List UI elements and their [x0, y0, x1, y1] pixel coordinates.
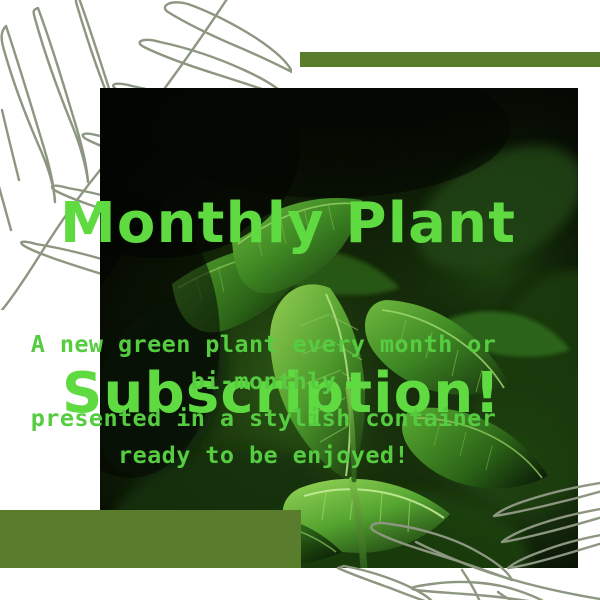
- olive-bar-top: [300, 52, 600, 67]
- body-line-2: bi-monthly: [0, 363, 527, 400]
- body-line-1: A new green plant every month or: [0, 326, 527, 363]
- body-line-3: presented in a stylish container: [0, 400, 527, 437]
- headline-line-1: Monthly Plant: [60, 181, 560, 266]
- poster-canvas: Monthly Plant Subscription! A new green …: [0, 0, 600, 600]
- body-line-4: ready to be enjoyed!: [0, 437, 527, 474]
- body-copy: A new green plant every month or bi-mont…: [0, 326, 527, 474]
